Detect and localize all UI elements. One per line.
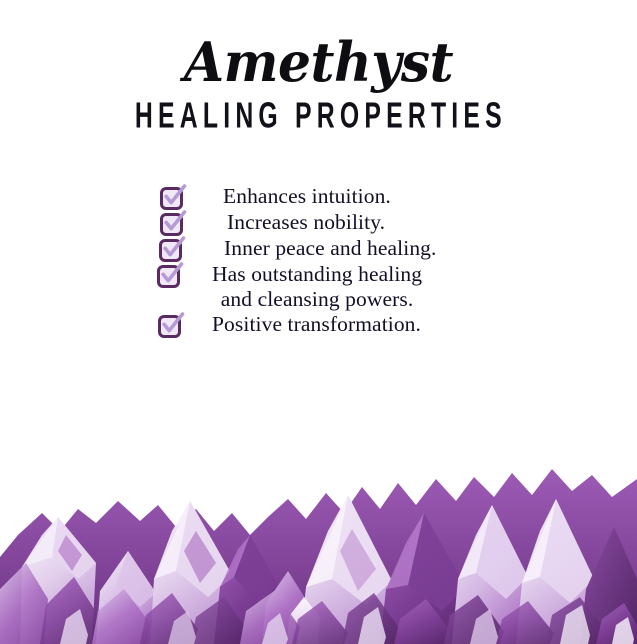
list-item-label: Enhances intuition. [223,184,391,209]
checked-checkbox-icon [158,315,181,338]
amethyst-healing-properties-poster: Amethyst HEALING PROPERTIES Enhances int… [0,0,637,644]
amethyst-crystal-cluster-photo [0,439,637,644]
checked-checkbox-icon [160,187,183,210]
page-subtitle: HEALING PROPERTIES [64,95,574,137]
checked-checkbox-icon [160,213,183,236]
page-title: Amethyst [13,32,625,92]
list-item-label: Increases nobility. [227,210,385,235]
list-item-label: Inner peace and healing. [224,236,437,261]
list-item: Inner peace and healing. [159,236,637,262]
list-item: Increases nobility. [160,210,637,236]
heading-block: Amethyst HEALING PROPERTIES [0,32,637,134]
list-item-label: Positive transformation. [212,312,421,337]
list-item: Positive transformation. [158,312,637,338]
checked-checkbox-icon [157,265,180,288]
list-item-label: Has outstanding healing and cleansing po… [212,262,422,312]
checked-checkbox-icon [159,239,182,262]
list-item: Has outstanding healing and cleansing po… [157,262,637,312]
list-item: Enhances intuition. [160,184,637,210]
healing-properties-list: Enhances intuition. Increases nobility. [0,184,637,338]
